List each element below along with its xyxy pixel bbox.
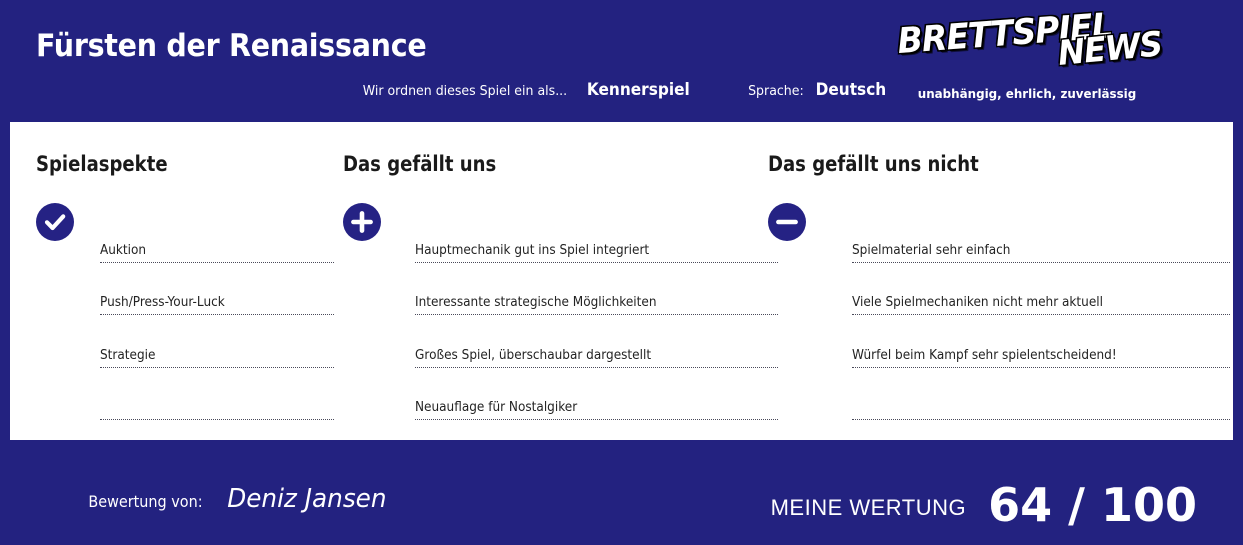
language-label: Sprache: (748, 83, 804, 99)
list-item-label: Push/Press-Your-Luck (100, 295, 225, 310)
list-item-label: Viele Spielmechaniken nicht mehr aktuell (852, 295, 1103, 310)
list-item[interactable]: Großes Spiel, überschaubar dargestellt (415, 315, 778, 368)
list-item-label: Auktion (100, 243, 146, 258)
list-item-label: Spielmaterial sehr einfach (852, 243, 1010, 258)
classification-label: Wir ordnen dieses Spiel ein als... (363, 83, 567, 99)
list-item-label: Würfel beim Kampf sehr spielentscheidend… (852, 348, 1117, 363)
list-item-label: Interessante strategische Möglichkeiten (415, 295, 657, 310)
score-block: MEINE WERTUNG 64 / 100 (771, 478, 1197, 532)
list-item[interactable]: Interessante strategische Möglichkeiten (415, 263, 778, 316)
logo-tagline: unabhängig, ehrlich, zuverlässig (904, 86, 1151, 101)
list-item[interactable]: Spielmaterial sehr einfach (852, 210, 1230, 263)
minus-circle-icon (768, 203, 806, 241)
brettspiel-news-logo[interactable]: BRETTSPIEL NEWS unabhängig, ehrlich, zuv… (897, 14, 1157, 106)
list-item[interactable]: Würfel beim Kampf sehr spielentscheidend… (852, 315, 1230, 368)
list-item-label: Hauptmechanik gut ins Spiel integriert (415, 243, 649, 258)
list-item[interactable] (852, 368, 1230, 421)
logo-word-news: NEWS (1056, 24, 1164, 74)
content-card: Spielaspekte Auktion Push/Press-Your-Luc… (10, 122, 1233, 440)
review-card-page: Fürsten der Renaissance Wir ordnen diese… (0, 0, 1243, 545)
reviewer-name: Deniz Jansen (227, 484, 386, 514)
footer-bar: Bewertung von: Deniz Jansen MEINE WERTUN… (0, 440, 1243, 545)
list-item-label: Strategie (100, 348, 155, 363)
score-value: 64 / 100 (988, 478, 1197, 532)
check-circle-icon (36, 203, 74, 241)
plus-circle-icon (343, 203, 381, 241)
column-heading: Das gefällt uns (343, 152, 496, 176)
column-heading: Spielaspekte (36, 152, 168, 176)
list-item-underline (415, 419, 778, 420)
pros-list: Hauptmechanik gut ins Spiel integriert I… (415, 210, 778, 420)
reviewer-label: Bewertung von: (88, 492, 202, 511)
language-value: Deutsch (816, 80, 887, 99)
list-item[interactable]: Neuauflage für Nostalgiker (415, 368, 778, 421)
list-item[interactable]: Hauptmechanik gut ins Spiel integriert (415, 210, 778, 263)
header-bar: Fürsten der Renaissance Wir ordnen diese… (0, 0, 1243, 122)
classification-value: Kennerspiel (587, 80, 690, 99)
list-item[interactable]: Auktion (100, 210, 334, 263)
list-item[interactable]: Push/Press-Your-Luck (100, 263, 334, 316)
header-meta-row: Wir ordnen dieses Spiel ein als... Kenne… (355, 80, 889, 99)
score-label: MEINE WERTUNG (771, 495, 967, 521)
columns-container: Spielaspekte Auktion Push/Press-Your-Luc… (10, 122, 1233, 440)
list-item[interactable]: Strategie (100, 315, 334, 368)
column-heading: Das gefällt uns nicht (768, 152, 979, 176)
list-item[interactable] (100, 368, 334, 421)
aspect-list: Auktion Push/Press-Your-Luck Strategie (100, 210, 334, 420)
list-item-underline (100, 419, 334, 420)
list-item-underline (852, 419, 1230, 420)
cons-list: Spielmaterial sehr einfach Viele Spielme… (852, 210, 1230, 420)
list-item[interactable]: Viele Spielmechaniken nicht mehr aktuell (852, 263, 1230, 316)
reviewer-block: Bewertung von: Deniz Jansen (82, 484, 391, 514)
list-item-label: Großes Spiel, überschaubar dargestellt (415, 348, 651, 363)
page-title: Fürsten der Renaissance (36, 28, 426, 64)
list-item-label: Neuauflage für Nostalgiker (415, 400, 577, 415)
